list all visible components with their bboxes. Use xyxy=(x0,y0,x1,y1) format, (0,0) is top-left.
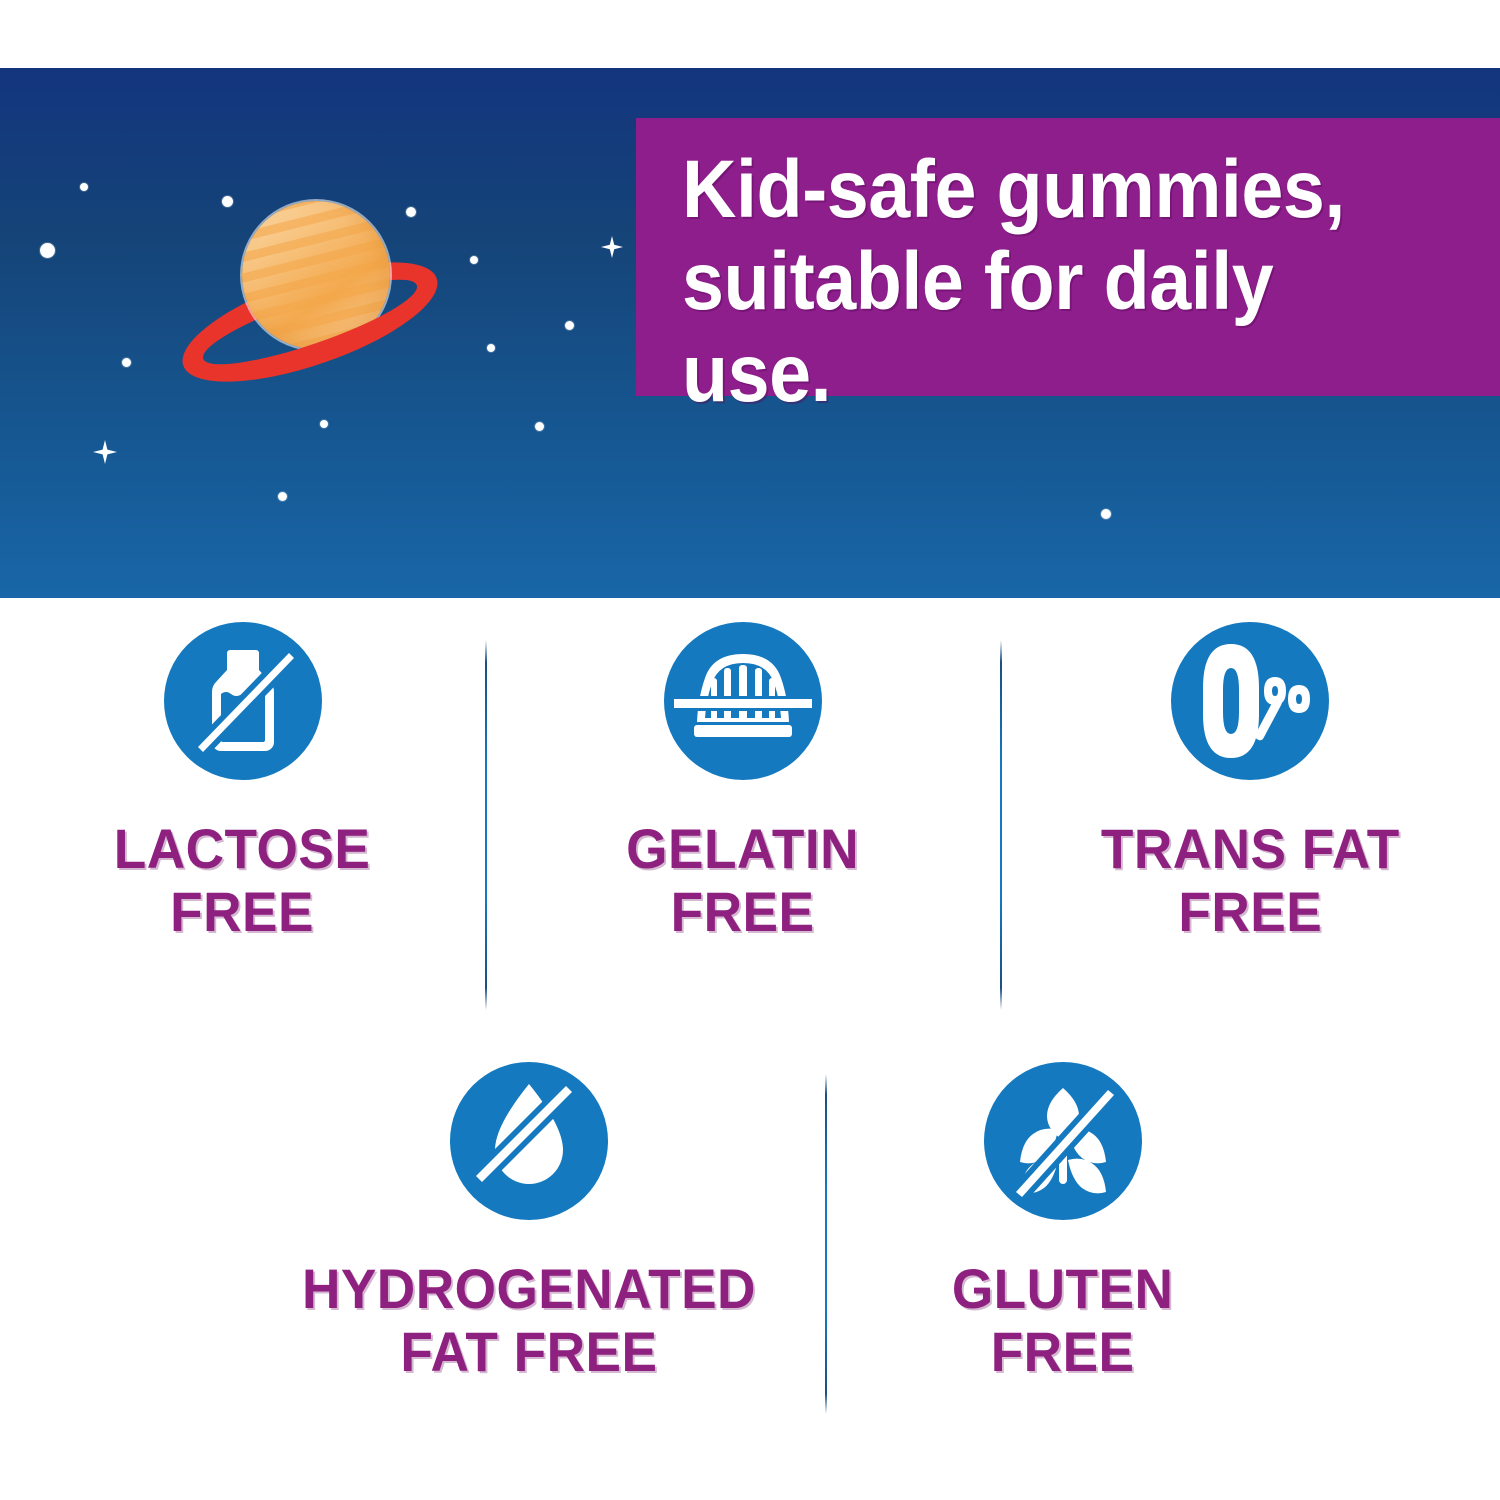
headline-text: Kid-safe gummies, suitable for daily use… xyxy=(682,144,1418,419)
star-dot xyxy=(80,183,88,191)
benefit-hydrogenated-fat-free[interactable]: HYDROGENATED FAT FREE xyxy=(0,1062,825,1462)
no-oil-droplet-icon xyxy=(450,1062,608,1220)
headline-banner: Kid-safe gummies, suitable for daily use… xyxy=(636,118,1500,396)
no-gelatin-mold-icon xyxy=(664,622,822,780)
benefit-trans-fat-free[interactable]: TRANS FAT FREE xyxy=(1000,622,1500,1022)
star-dot xyxy=(278,492,287,501)
benefit-gluten-free[interactable]: GLUTEN FREE xyxy=(825,1062,1500,1462)
star-dot xyxy=(40,243,55,258)
column-divider xyxy=(1000,640,1002,1010)
benefit-label: LACTOSE FREE xyxy=(114,818,371,943)
column-divider xyxy=(485,640,487,1010)
benefit-lactose-free[interactable]: LACTOSE FREE xyxy=(0,622,485,1022)
star-dot xyxy=(565,321,574,330)
star-dot xyxy=(1101,509,1111,519)
benefits-row-top: LACTOSE FREE xyxy=(0,622,1500,1022)
benefits-row-bottom: HYDROGENATED FAT FREE xyxy=(0,1062,1500,1462)
no-wheat-icon xyxy=(984,1062,1142,1220)
infographic-page: Kid-safe gummies, suitable for daily use… xyxy=(0,0,1500,1500)
benefit-label: GLUTEN FREE xyxy=(952,1258,1174,1383)
benefits-section: LACTOSE FREE xyxy=(0,600,1500,1500)
column-divider xyxy=(825,1074,827,1414)
zero-percent-icon xyxy=(1171,622,1329,780)
benefit-gelatin-free[interactable]: GELATIN FREE xyxy=(485,622,1000,1022)
benefit-label: HYDROGENATED FAT FREE xyxy=(302,1258,756,1383)
star-dot xyxy=(535,422,544,431)
benefit-label: TRANS FAT FREE xyxy=(1101,818,1400,943)
no-milk-bottle-icon xyxy=(164,622,322,780)
star-dot xyxy=(487,344,495,352)
star-dot xyxy=(122,358,131,367)
benefit-label: GELATIN FREE xyxy=(626,818,859,943)
star-dot xyxy=(470,256,478,264)
saturn-planet xyxy=(180,183,440,373)
star-dot xyxy=(320,420,328,428)
